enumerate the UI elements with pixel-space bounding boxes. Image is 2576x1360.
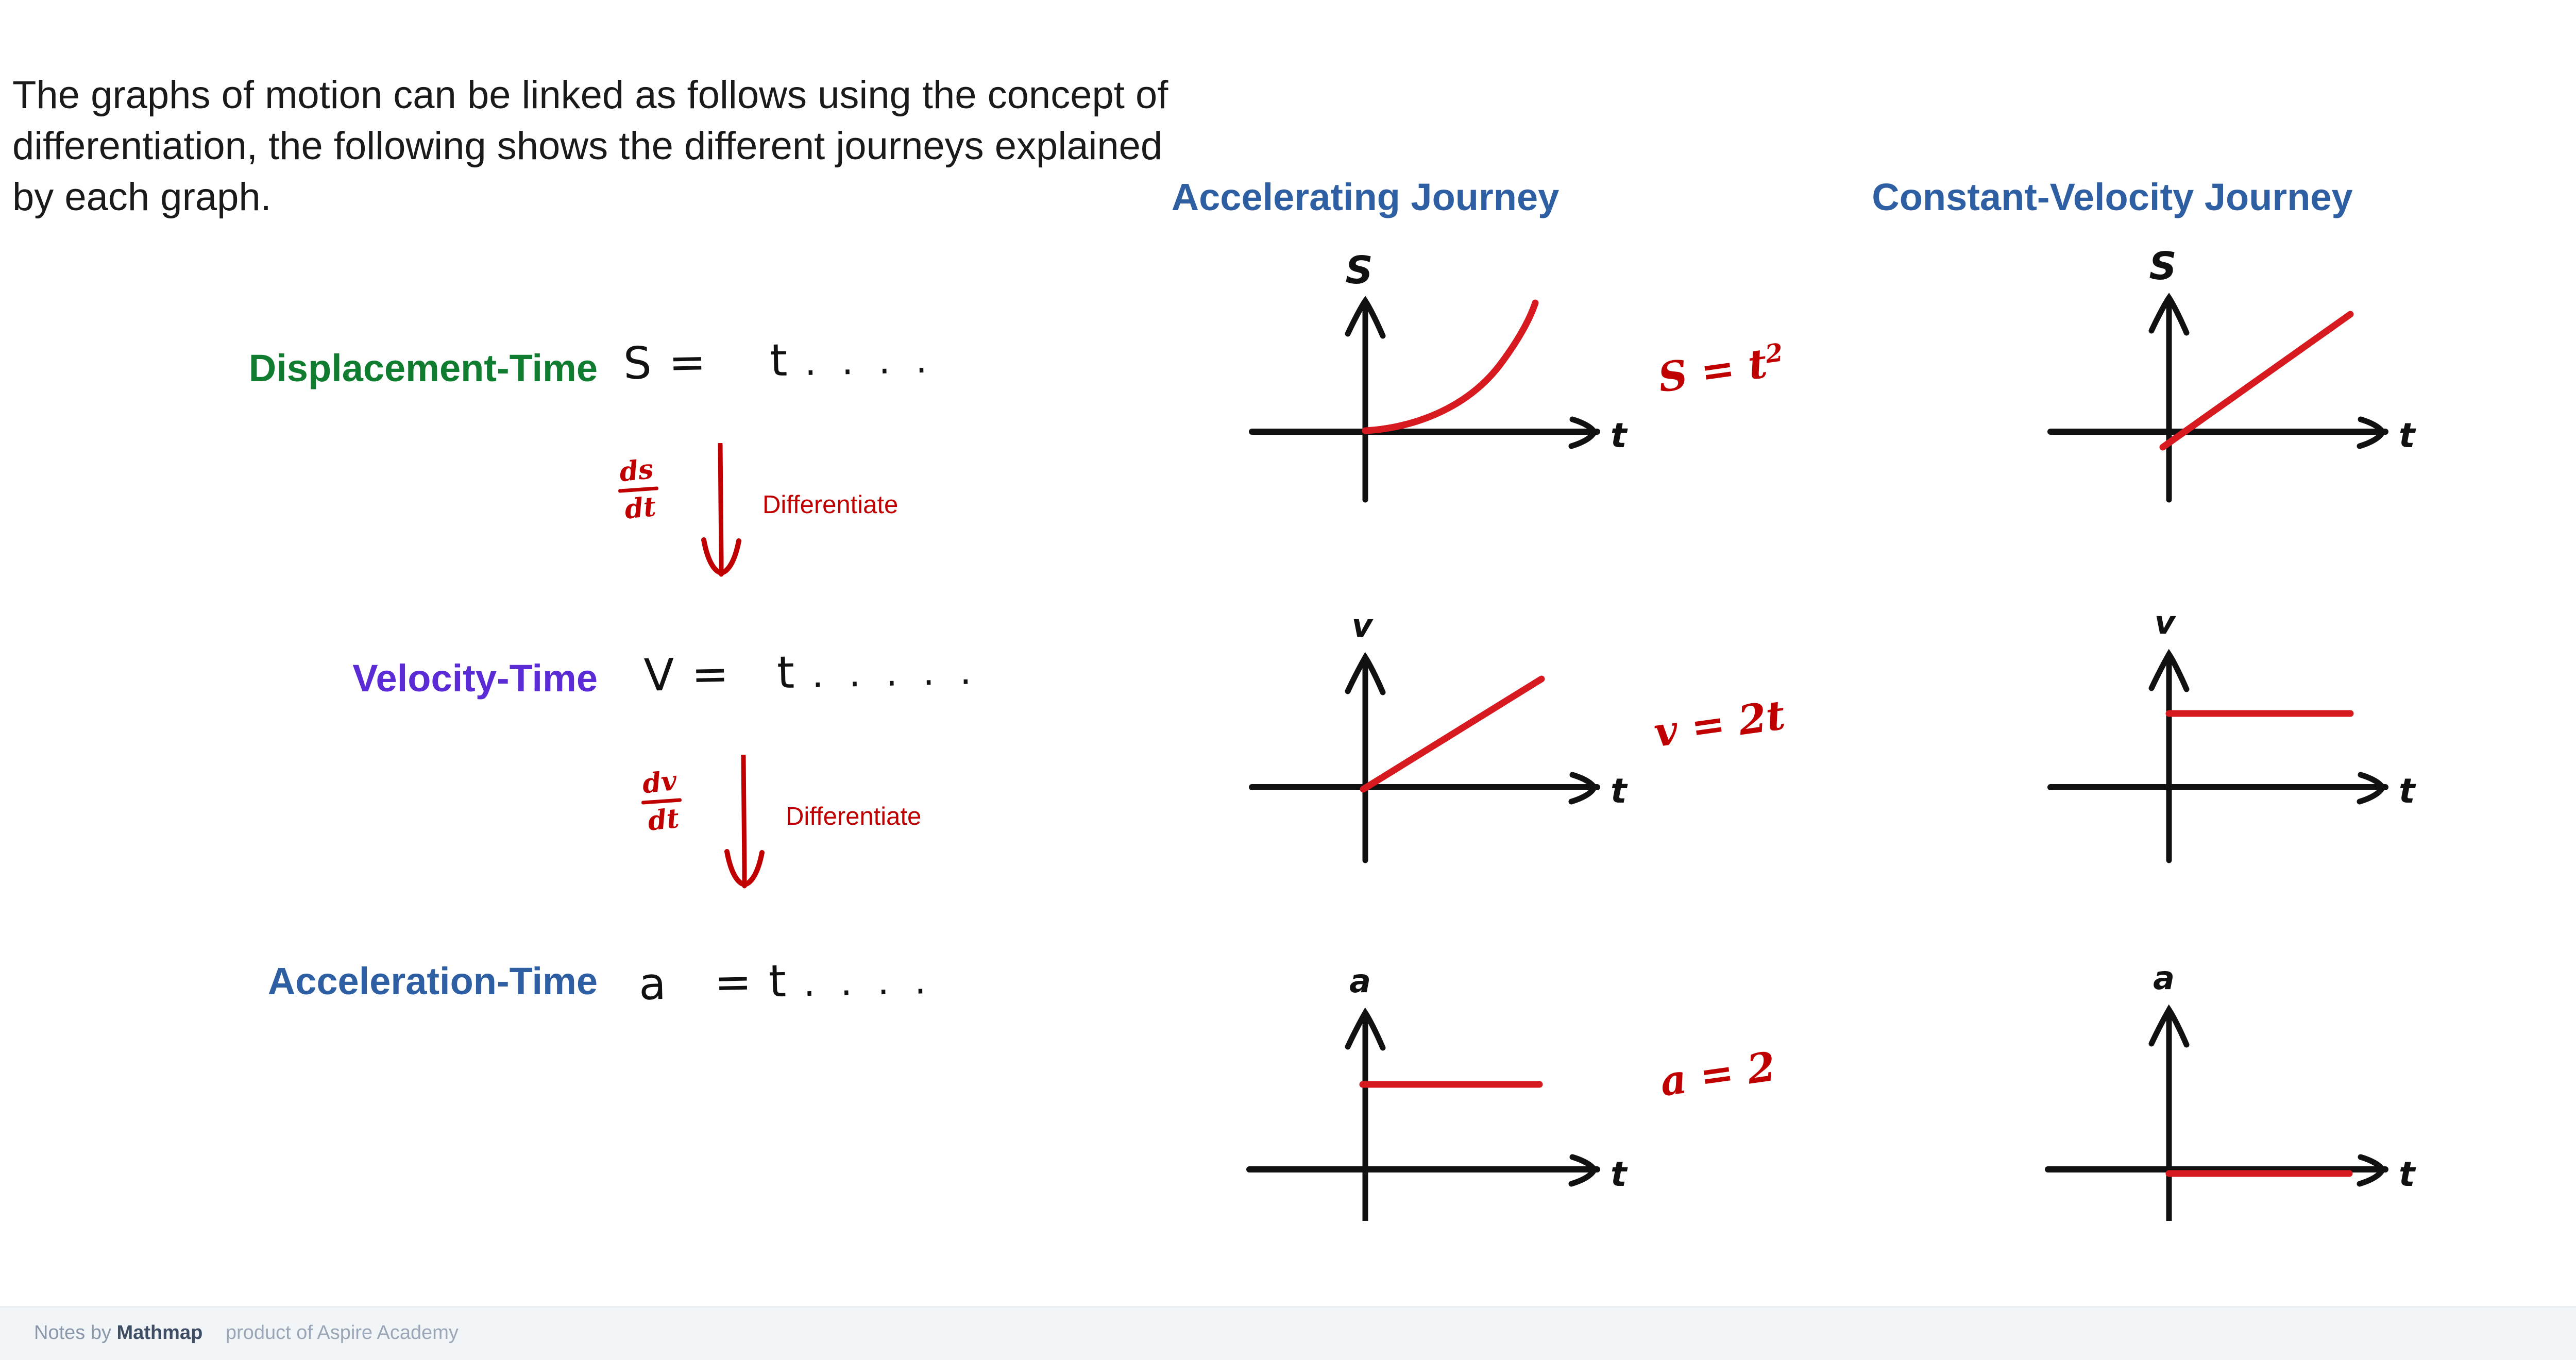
- x-axis-label-t: t: [1611, 416, 1628, 455]
- row-equation-velocity: V = t . . . . .: [643, 643, 978, 702]
- row-equation-acceleration: a = t . . . .: [638, 953, 933, 1010]
- eq-dots-s: . . . .: [804, 338, 935, 384]
- y-axis-label-v: v: [2155, 604, 2177, 641]
- column-header-stationary-journey: Stationary Journey: [2555, 175, 2576, 219]
- column-header-accelerating-journey: Accelerating Journey: [1108, 175, 1623, 219]
- y-axis-label-s: S: [2149, 244, 2176, 288]
- x-axis-label-t: t: [2399, 416, 2416, 455]
- row-label-displacement-time: Displacement-Time: [165, 346, 598, 390]
- footer-bar: Notes by Mathmap product of Aspire Acade…: [0, 1306, 2576, 1360]
- x-axis-label-t: t: [2399, 771, 2416, 811]
- differentiate-step-2: dv dt Differentiate: [631, 755, 1054, 894]
- eq-dots-v: . . . . .: [811, 649, 979, 696]
- y-axis-label-a: a: [2153, 959, 2175, 997]
- footer-brand: Mathmap: [117, 1322, 203, 1344]
- x-axis-label-t: t: [2399, 1154, 2416, 1194]
- graph-acceleration-accelerating: a t: [1236, 953, 1649, 1221]
- annotation-s-equals-t-squared: S = t2: [1655, 337, 1787, 401]
- eq-var-v: V: [643, 650, 676, 702]
- eq-equals-a: =: [714, 956, 754, 1009]
- eq-equals-s: =: [668, 336, 708, 389]
- x-axis-label-t: t: [1611, 1154, 1628, 1194]
- eq-rhs-v: t: [776, 647, 796, 699]
- graph-displacement-accelerating: S t: [1236, 242, 1649, 510]
- graph-velocity-accelerating: v t: [1236, 598, 1649, 865]
- footer-credit: Notes by Mathmap product of Aspire Acade…: [34, 1322, 459, 1344]
- fraction-numerator: dv: [638, 767, 681, 798]
- footer-prefix: Notes by: [34, 1322, 111, 1344]
- fraction-denominator: dt: [619, 493, 662, 524]
- annotation-v-equals-2t: v = 2t: [1651, 692, 1788, 757]
- annotation-exponent: 2: [1764, 338, 1785, 369]
- eq-equals-v: =: [691, 648, 731, 701]
- differentiate-step-1: ds dt Differentiate: [608, 443, 1030, 582]
- eq-rhs-s: t: [769, 335, 789, 387]
- intro-paragraph: The graphs of motion can be linked as fo…: [12, 70, 1197, 223]
- graph-velocity-constant-velocity: v t: [2025, 598, 2437, 865]
- y-axis-label-s: S: [1345, 248, 1372, 293]
- derivative-fraction-dv-dt: dv dt: [638, 767, 685, 835]
- x-axis-label-t: t: [1611, 771, 1628, 811]
- row-label-acceleration-time: Acceleration-Time: [165, 959, 598, 1003]
- differentiate-label-2: Differentiate: [786, 802, 921, 831]
- y-axis-label-a: a: [1349, 962, 1371, 1000]
- annotation-text: S = t: [1655, 340, 1770, 402]
- eq-var-s: S: [623, 337, 654, 389]
- y-axis-label-v: v: [1352, 607, 1374, 644]
- eq-dots-a: . . . .: [803, 959, 933, 1005]
- down-arrow-icon: [714, 755, 775, 889]
- row-label-velocity-time: Velocity-Time: [165, 656, 598, 700]
- row-equation-displacement: S = t . . . .: [623, 332, 935, 390]
- eq-var-a: a: [638, 958, 668, 1010]
- fraction-numerator: ds: [615, 455, 658, 486]
- fraction-denominator: dt: [642, 805, 685, 836]
- footer-product: product of Aspire Academy: [226, 1322, 459, 1344]
- differentiate-label-1: Differentiate: [762, 490, 898, 519]
- derivative-fraction-ds-dt: ds dt: [615, 455, 662, 523]
- column-header-constant-velocity-journey: Constant-Velocity Journey: [1731, 175, 2494, 219]
- annotation-a-equals-2: a = 2: [1657, 1043, 1778, 1106]
- graph-displacement-constant-velocity: S t: [2025, 242, 2437, 510]
- eq-rhs-a: t: [768, 956, 788, 1008]
- graph-acceleration-constant-velocity: a t: [2025, 953, 2437, 1221]
- down-arrow-icon: [690, 443, 752, 577]
